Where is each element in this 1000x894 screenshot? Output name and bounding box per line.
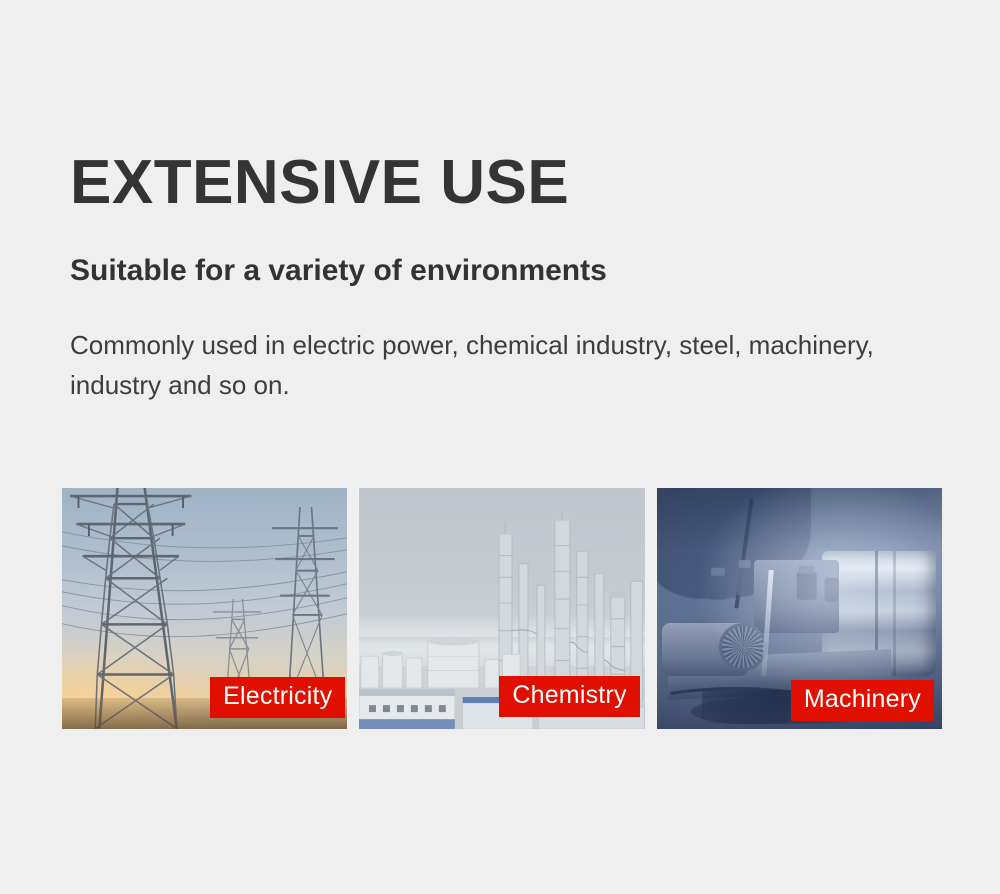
card-chemistry[interactable]: Chemistry [359, 488, 644, 729]
section-description: Commonly used in electric power, chemica… [70, 287, 890, 406]
card-electricity[interactable]: Electricity [62, 488, 347, 729]
extensive-use-section: EXTENSIVE USE Suitable for a variety of … [0, 0, 1000, 894]
lattice-tower-right [267, 507, 341, 700]
badge-machinery: Machinery [791, 680, 934, 721]
lattice-tower-foreground [68, 488, 194, 729]
badge-chemistry: Chemistry [499, 676, 639, 717]
heading-block: EXTENSIVE USE Suitable for a variety of … [70, 150, 970, 406]
badge-electricity: Electricity [210, 677, 345, 718]
card-machinery[interactable]: Machinery [657, 488, 942, 729]
section-subtitle: Suitable for a variety of environments [70, 215, 970, 287]
application-cards: Electricity [62, 488, 942, 730]
page-title: EXTENSIVE USE [70, 150, 970, 215]
